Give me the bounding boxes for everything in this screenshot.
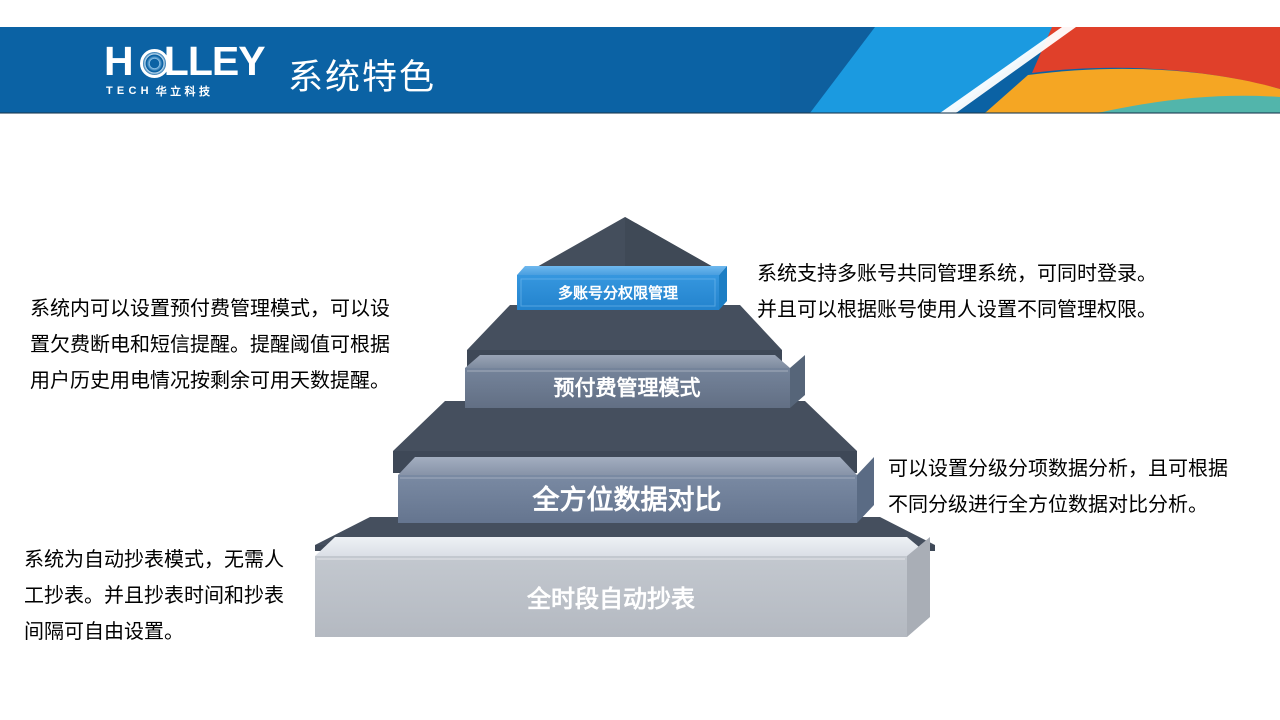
holley-ring-icon bbox=[140, 49, 169, 78]
page-title: 系统特色 bbox=[288, 49, 436, 100]
callout-prepaid-mode: 系统内可以设置预付费管理模式，可以设 置欠费断电和短信提醒。提醒阈值可根据 用户… bbox=[30, 290, 440, 398]
logo-chinese-text: 华立科技 bbox=[156, 83, 214, 99]
callout-multi-account: 系统支持多账号共同管理系统，可同时登录。 并且可以根据账号使用人设置不同管理权限… bbox=[757, 255, 1187, 327]
callout-data-analysis: 可以设置分级分项数据分析，且可根据 不同分级进行全方位数据对比分析。 bbox=[888, 450, 1280, 522]
logo-wordmark: H LLEY bbox=[104, 41, 265, 82]
decorative-swoosh-icon bbox=[780, 27, 1280, 113]
pyramid-tier-1-label: 多账号分权限管理 bbox=[558, 284, 678, 302]
header-decoration bbox=[780, 27, 1280, 113]
pyramid-tier-2-label: 预付费管理模式 bbox=[554, 376, 701, 400]
callout-auto-meter-reading: 系统为自动抄表模式，无需人 工抄表。并且抄表时间和抄表 间隔可自由设置。 bbox=[24, 541, 324, 649]
header-underline bbox=[0, 112, 1280, 114]
pyramid-tier-1[interactable]: 多账号分权限管理 bbox=[517, 266, 727, 310]
pyramid-tier-4[interactable]: 全时段自动抄表 bbox=[315, 537, 930, 637]
logo-subtitle: TECH 华立科技 bbox=[106, 83, 262, 99]
pyramid-tier-4-label: 全时段自动抄表 bbox=[526, 585, 696, 613]
logo-tech-text: TECH bbox=[106, 85, 153, 97]
slide-canvas: H LLEY TECH 华立科技 系统特色 bbox=[0, 0, 1280, 720]
pyramid-tier-3[interactable]: 全方位数据对比 bbox=[398, 457, 874, 523]
pyramid-tier-3-label: 全方位数据对比 bbox=[532, 484, 722, 516]
holley-logo: H LLEY TECH 华立科技 bbox=[104, 43, 264, 101]
pyramid-tier-2[interactable]: 预付费管理模式 bbox=[465, 355, 805, 408]
